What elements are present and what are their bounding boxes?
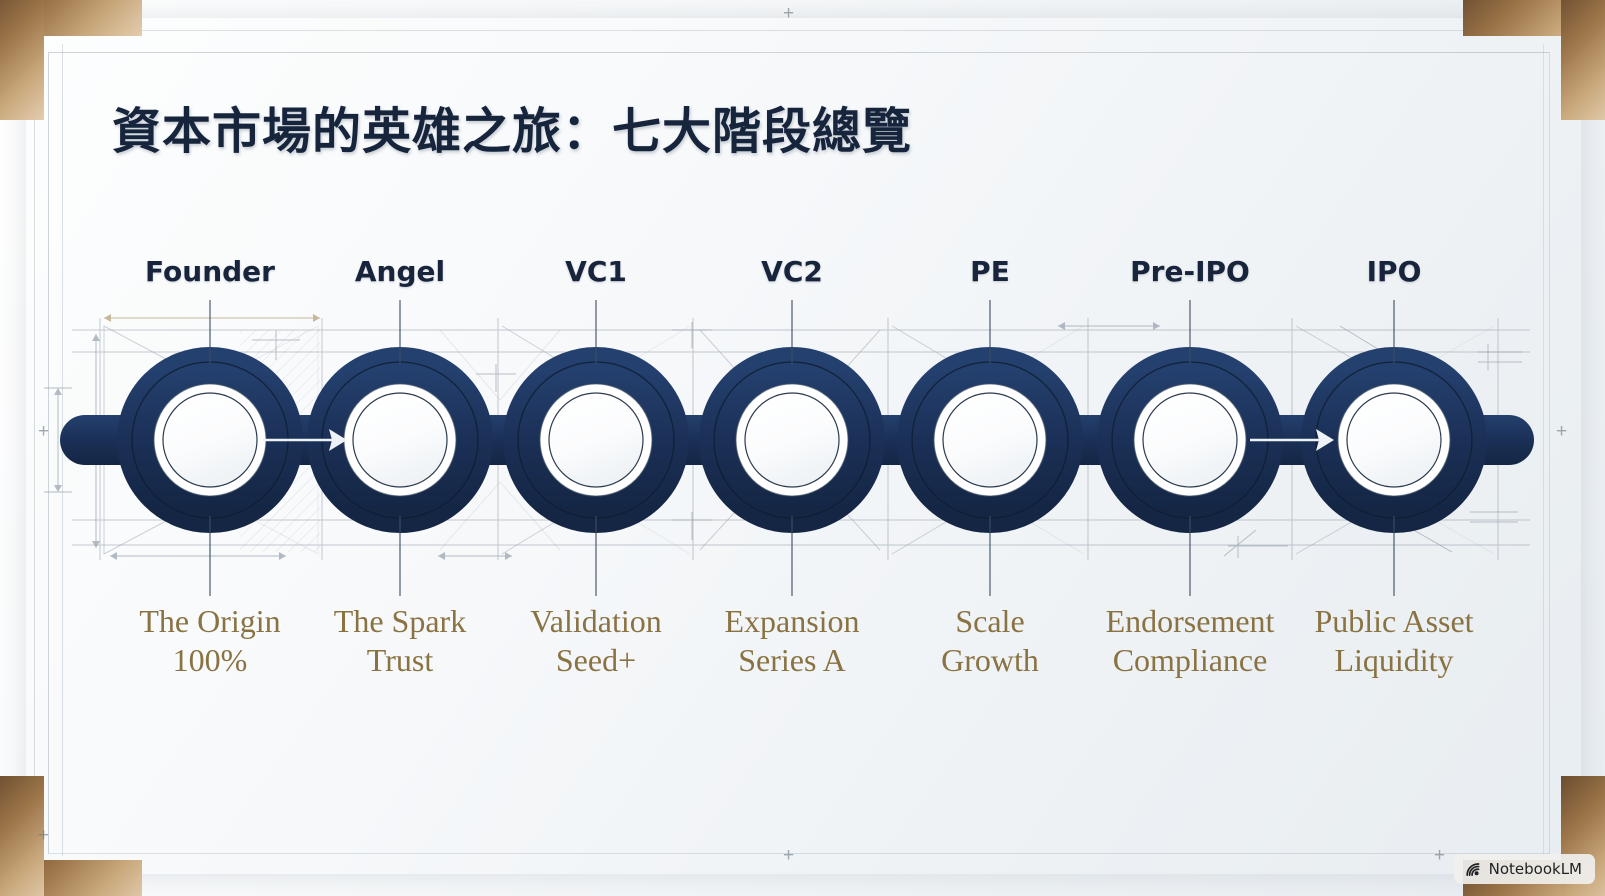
- registration-mark-2: +: [38, 422, 49, 441]
- caption-line-primary: Expansion: [724, 603, 859, 639]
- stage-caption-pe: ScaleGrowth: [941, 602, 1039, 680]
- caption-line-primary: The Origin: [139, 603, 280, 639]
- registration-mark-5: +: [1434, 846, 1445, 865]
- page-title: 資本市場的英雄之旅：七大階段總覽: [112, 92, 912, 163]
- stage-label-pre-ipo: Pre-IPO: [1130, 255, 1250, 288]
- corner-ornament-top-left: [0, 0, 100, 98]
- registration-mark-3: +: [1556, 422, 1567, 441]
- stage-label-vc1: VC1: [565, 255, 627, 288]
- stage-caption-vc2: ExpansionSeries A: [724, 602, 859, 680]
- corner-bar-vertical: [1561, 0, 1605, 120]
- caption-line-primary: The Spark: [334, 603, 466, 639]
- caption-line-secondary: Trust: [334, 641, 466, 680]
- corner-bar-vertical: [0, 0, 44, 120]
- notebooklm-label: NotebookLM: [1489, 860, 1582, 878]
- stage-label-vc2: VC2: [761, 255, 823, 288]
- caption-line-secondary: Liquidity: [1314, 641, 1473, 680]
- stage-label-angel: Angel: [355, 255, 445, 288]
- caption-line-primary: Public Asset: [1314, 603, 1473, 639]
- registration-mark-4: +: [38, 826, 49, 845]
- stage-caption-angel: The SparkTrust: [334, 602, 466, 680]
- caption-line-secondary: Series A: [724, 641, 859, 680]
- caption-line-secondary: 100%: [139, 641, 280, 680]
- slide-root: ++++++: [0, 0, 1605, 896]
- registration-mark-0: +: [783, 4, 794, 23]
- notebooklm-fan-icon: [1465, 862, 1482, 877]
- caption-line-primary: Validation: [530, 603, 662, 639]
- corner-ornament-top-right: [1505, 0, 1605, 98]
- notebooklm-watermark: NotebookLM: [1454, 854, 1595, 884]
- caption-line-primary: Scale: [955, 603, 1024, 639]
- caption-line-secondary: Compliance: [1106, 641, 1275, 680]
- stage-caption-pre-ipo: EndorsementCompliance: [1106, 602, 1275, 680]
- stage-label-ipo: IPO: [1367, 255, 1422, 288]
- caption-line-secondary: Growth: [941, 641, 1039, 680]
- inner-border-rule-secondary: [62, 44, 1544, 856]
- caption-line-primary: Endorsement: [1106, 603, 1275, 639]
- stage-caption-vc1: ValidationSeed+: [530, 602, 662, 680]
- corner-ornament-bottom-left: [0, 798, 100, 896]
- registration-mark-1: +: [783, 846, 794, 865]
- stage-caption-founder: The Origin100%: [139, 602, 280, 680]
- stage-label-founder: Founder: [145, 255, 275, 288]
- caption-line-secondary: Seed+: [530, 641, 662, 680]
- stage-label-pe: PE: [970, 255, 1010, 288]
- stage-caption-ipo: Public AssetLiquidity: [1314, 602, 1473, 680]
